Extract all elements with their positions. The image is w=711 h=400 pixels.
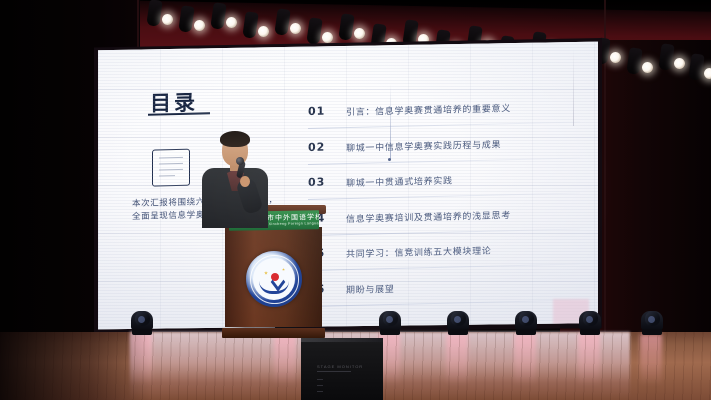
spotlight-lens-icon: [322, 32, 333, 43]
spotlight-lens-icon: [610, 52, 621, 63]
moving-head-light: [514, 305, 538, 335]
moving-head-light: [378, 305, 402, 335]
monitor-led: [317, 379, 323, 380]
monitor-top-edge: [301, 338, 383, 342]
light-base: [380, 329, 400, 335]
screen-vignette: [98, 41, 598, 330]
presenter: [196, 131, 274, 227]
light-glow-icon: [454, 316, 461, 323]
light-base: [516, 329, 536, 335]
monitor-brand-label: STAGE MONITOR: [317, 364, 363, 369]
moving-head-light: [640, 305, 664, 335]
moving-head-light: [578, 305, 602, 335]
light-glow-icon: [386, 316, 393, 323]
spotlight-lens-icon: [290, 23, 301, 34]
hanging-cable: [573, 48, 574, 126]
light-glow-icon: [648, 316, 655, 323]
moving-head-light: [130, 305, 154, 335]
moving-head-light: [446, 305, 470, 335]
spotlight-lens-icon: [162, 14, 173, 25]
led-screen: 目录 本次汇报将围绕六个核心方面展开，全面呈现信息学奥赛的贯通培养路径 01引言…: [98, 41, 598, 330]
stage-scene: 目录 本次汇报将围绕六个核心方面展开，全面呈现信息学奥赛的贯通培养路径 01引言…: [0, 0, 711, 400]
spotlight-lens-icon: [674, 58, 685, 69]
spotlight-lens-icon: [354, 28, 365, 39]
spotlight-lens-icon: [704, 68, 711, 79]
school-emblem-icon: [246, 251, 302, 307]
light-base: [580, 329, 600, 335]
light-glow-icon: [522, 316, 529, 323]
light-base: [132, 329, 152, 335]
light-glow-icon: [586, 316, 593, 323]
presenter-hand: [240, 176, 250, 187]
light-base: [642, 329, 662, 335]
floor-shadow-left: [0, 332, 150, 400]
spotlight-lens-icon: [194, 20, 205, 31]
monitor-led: [317, 385, 323, 386]
monitor-accent-line: [317, 371, 351, 372]
podium-foot: [222, 328, 325, 338]
spotlight-lens-icon: [226, 17, 237, 28]
stage-monitor-speaker: STAGE MONITOR: [301, 338, 383, 400]
microphone-head-icon: [236, 157, 244, 165]
light-base: [448, 329, 468, 335]
spotlight-lens-icon: [258, 26, 269, 37]
presenter-hair: [220, 131, 250, 147]
light-glow-icon: [138, 316, 145, 323]
monitor-led: [317, 391, 323, 392]
spotlight-lens-icon: [642, 62, 653, 73]
